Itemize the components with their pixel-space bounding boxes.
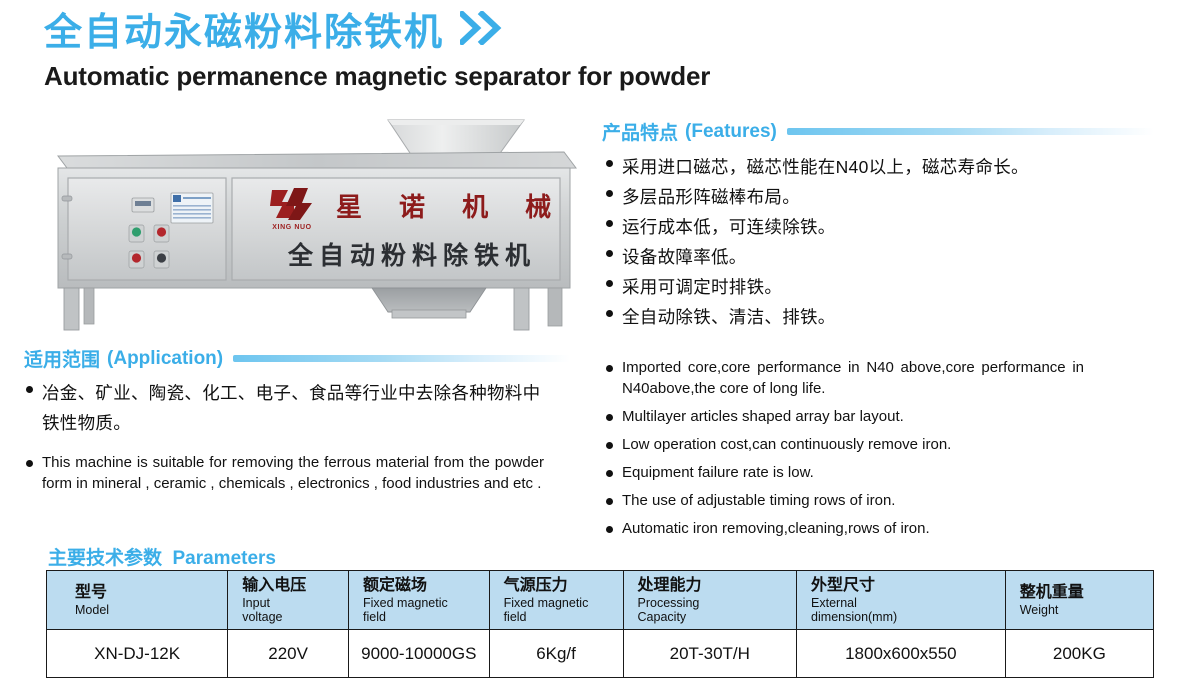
list-item: 全自动除铁、清洁、排铁。: [606, 302, 1086, 332]
table-header-cell: 输入电压 Input voltage: [228, 571, 349, 630]
list-item-label: Multilayer articles shaped array bar lay…: [622, 406, 904, 427]
page-header: 全自动永磁粉料除铁机 Automatic permanence magnetic…: [44, 8, 710, 92]
list-item-label: 运行成本低，可连续除铁。: [622, 212, 836, 242]
header-cn: 外型尺寸: [811, 576, 1001, 595]
bullet-icon: [606, 414, 613, 421]
double-chevron-right-icon: [460, 11, 508, 50]
list-item: Imported core,core performance in N40 ab…: [606, 357, 1084, 399]
parameters-table: 型号 Model 输入电压 Input voltage 额定磁场 Fixed m…: [46, 570, 1154, 678]
svg-text:全自动粉料除铁机: 全自动粉料除铁机: [287, 241, 536, 270]
bullet-icon: [606, 190, 613, 197]
bullet-icon: [606, 220, 613, 227]
header-cn: 输入电压: [242, 576, 344, 595]
header-en: Model: [75, 604, 223, 618]
table-cell: 9000-10000GS: [349, 630, 490, 678]
product-photo: XING NUO 星 诺 机 械 全自动粉料除铁机: [36, 108, 592, 336]
table-cell: 220V: [228, 630, 349, 678]
list-item: 多层品形阵磁棒布局。: [606, 182, 1086, 212]
header-cn: 型号: [75, 583, 223, 602]
table-header-cell: 气源压力 Fixed magnetic field: [489, 571, 623, 630]
parameters-heading-cn: 主要技术参数: [48, 548, 162, 569]
list-item-label: 设备故障率低。: [622, 242, 747, 272]
list-item: Equipment failure rate is low.: [606, 462, 1084, 483]
discharge-chute-icon: [372, 288, 486, 318]
svg-text:XING NUO: XING NUO: [272, 224, 311, 231]
list-item: Multilayer articles shaped array bar lay…: [606, 406, 1084, 427]
table-row: XN-DJ-12K 220V 9000-10000GS 6Kg/f 20T-30…: [47, 630, 1154, 678]
list-item: 冶金、矿业、陶瓷、化工、电子、食品等行业中去除各种物料中铁性物质。: [26, 378, 548, 438]
table-header-cell: 处理能力 Processing Capacity: [623, 571, 797, 630]
table-cell: 1800x600x550: [797, 630, 1006, 678]
application-list-cn: 冶金、矿业、陶瓷、化工、电子、食品等行业中去除各种物料中铁性物质。: [26, 378, 548, 438]
header-en: Input voltage: [242, 597, 344, 624]
machine-illustration: XING NUO 星 诺 机 械 全自动粉料除铁机: [36, 108, 592, 336]
header-cn: 气源压力: [504, 576, 619, 595]
list-item: 运行成本低，可连续除铁。: [606, 212, 1086, 242]
list-item-label: 多层品形阵磁棒布局。: [622, 182, 800, 212]
table-header-row: 型号 Model 输入电压 Input voltage 额定磁场 Fixed m…: [47, 571, 1154, 630]
features-list-en: Imported core,core performance in N40 ab…: [606, 357, 1084, 539]
bullet-icon: [606, 526, 613, 533]
list-item-label: Imported core,core performance in N40 ab…: [622, 357, 1084, 399]
table-header-cell: 外型尺寸 External dimension(mm): [797, 571, 1006, 630]
header-en: Fixed magnetic field: [363, 597, 485, 624]
header-en: Fixed magnetic field: [504, 597, 619, 624]
table-cell: 200KG: [1005, 630, 1153, 678]
product-spec-page: 全自动永磁粉料除铁机 Automatic permanence magnetic…: [0, 0, 1200, 697]
list-item-label: Low operation cost,can continuously remo…: [622, 434, 951, 455]
features-heading-cn: 产品特点: [602, 118, 678, 145]
list-item-label: 采用可调定时排铁。: [622, 272, 782, 302]
header-en: Weight: [1020, 604, 1149, 618]
list-item-label: 冶金、矿业、陶瓷、化工、电子、食品等行业中去除各种物料中铁性物质。: [42, 378, 548, 438]
table-cell: XN-DJ-12K: [47, 630, 228, 678]
application-list-en: This machine is suitable for removing th…: [26, 452, 544, 494]
page-title-en: Automatic permanence magnetic separator …: [44, 60, 710, 92]
list-item: This machine is suitable for removing th…: [26, 452, 544, 494]
bullet-icon: [606, 280, 613, 287]
list-item: 采用进口磁芯，磁芯性能在N40以上，磁芯寿命长。: [606, 152, 1086, 182]
header-en: External dimension(mm): [811, 597, 1001, 624]
features-heading: 产品特点 (Features): [602, 118, 1154, 145]
list-item: 采用可调定时排铁。: [606, 272, 1086, 302]
list-item: 设备故障率低。: [606, 242, 1086, 272]
svg-text:星 诺 机 械: 星 诺 机 械: [336, 193, 565, 223]
table-cell: 6Kg/f: [489, 630, 623, 678]
list-item-label: 采用进口磁芯，磁芯性能在N40以上，磁芯寿命长。: [622, 152, 1029, 182]
list-item-label: This machine is suitable for removing th…: [42, 452, 544, 494]
bullet-icon: [606, 160, 613, 167]
header-cn: 额定磁场: [363, 576, 485, 595]
list-item-label: Automatic iron removing,cleaning,rows of…: [622, 518, 930, 539]
page-title-cn: 全自动永磁粉料除铁机: [44, 8, 444, 58]
parameters-heading: 主要技术参数 Parameters: [48, 543, 276, 570]
header-en: Processing Capacity: [638, 597, 793, 624]
parameters-heading-en: Parameters: [172, 548, 276, 569]
heading-rule: [233, 355, 570, 362]
bullet-icon: [606, 250, 613, 257]
bullet-icon: [606, 498, 613, 505]
list-item-label: 全自动除铁、清洁、排铁。: [622, 302, 836, 332]
list-item: Automatic iron removing,cleaning,rows of…: [606, 518, 1084, 539]
features-list-cn: 采用进口磁芯，磁芯性能在N40以上，磁芯寿命长。 多层品形阵磁棒布局。 运行成本…: [606, 152, 1086, 332]
list-item: The use of adjustable timing rows of iro…: [606, 490, 1084, 511]
table-header-cell: 额定磁场 Fixed magnetic field: [349, 571, 490, 630]
table-header-cell: 整机重量 Weight: [1005, 571, 1153, 630]
bullet-icon: [26, 386, 33, 393]
header-cn: 处理能力: [638, 576, 793, 595]
list-item: Low operation cost,can continuously remo…: [606, 434, 1084, 455]
features-heading-en: (Features): [685, 121, 777, 143]
heading-rule: [787, 128, 1154, 135]
bullet-icon: [606, 310, 613, 317]
application-heading: 适用范围 (Application): [24, 345, 570, 372]
table-header-cell: 型号 Model: [47, 571, 228, 630]
list-item-label: Equipment failure rate is low.: [622, 462, 814, 483]
bullet-icon: [606, 442, 613, 449]
application-heading-en: (Application): [107, 348, 223, 370]
parameters-table-wrap: 型号 Model 输入电压 Input voltage 额定磁场 Fixed m…: [46, 570, 1154, 678]
bullet-icon: [606, 365, 613, 372]
bullet-icon: [26, 460, 33, 467]
application-heading-cn: 适用范围: [24, 345, 100, 372]
table-cell: 20T-30T/H: [623, 630, 797, 678]
bullet-icon: [606, 470, 613, 477]
list-item-label: The use of adjustable timing rows of iro…: [622, 490, 895, 511]
header-cn: 整机重量: [1020, 583, 1149, 602]
